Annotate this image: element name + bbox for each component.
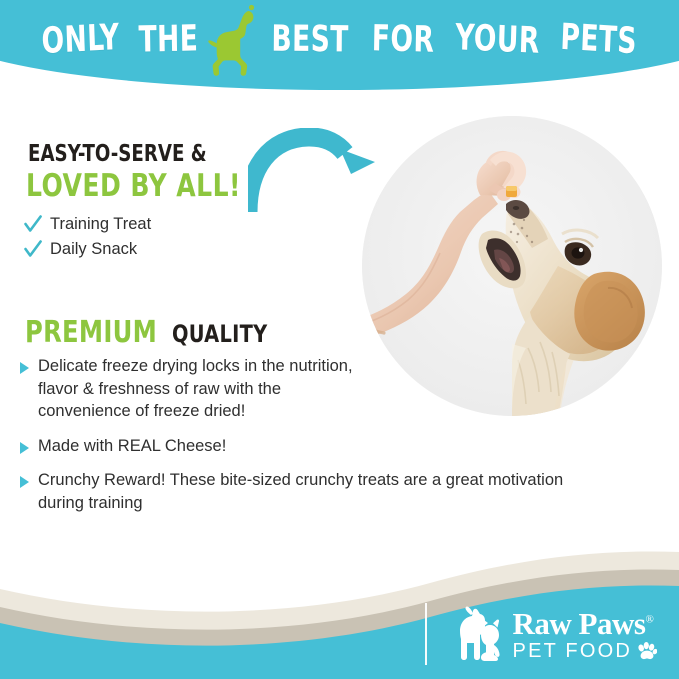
check-label: Training Treat bbox=[50, 213, 151, 235]
curved-arrow-icon bbox=[248, 128, 378, 212]
section-heading-premium: PREMIUM bbox=[25, 315, 157, 350]
paw-print-icon bbox=[637, 642, 657, 660]
section-heading-quality: QUALITY bbox=[172, 320, 267, 348]
check-label: Daily Snack bbox=[50, 238, 137, 260]
bullet-text: Delicate freeze drying locks in the nutr… bbox=[38, 355, 368, 423]
logo-subtitle: PET FOOD bbox=[513, 641, 632, 661]
check-list: Training Treat Daily Snack bbox=[24, 213, 284, 263]
logo-brand-words: Raw Paws bbox=[513, 606, 646, 641]
bullet-text: Made with REAL Cheese! bbox=[38, 435, 226, 458]
triangle-bullet-icon bbox=[20, 362, 29, 374]
check-icon bbox=[24, 213, 42, 235]
header-title: ONLY THE BEST FOR YOUR PETS bbox=[0, 0, 679, 80]
triangle-bullet-icon bbox=[20, 476, 29, 488]
list-item: Training Treat bbox=[24, 213, 284, 235]
logo-divider bbox=[425, 603, 427, 665]
header-word-best: BEST bbox=[272, 22, 350, 59]
logo-text: Raw Paws® PET FOOD bbox=[513, 608, 657, 661]
header-word-your: YOUR bbox=[454, 20, 539, 60]
logo-subtitle-row: PET FOOD bbox=[513, 641, 657, 661]
section-heading: PREMIUM QUALITY bbox=[25, 315, 278, 350]
bullet-text: Crunchy Reward! These bite-sized crunchy… bbox=[38, 469, 598, 514]
header-word-pets: PETS bbox=[560, 20, 638, 61]
list-item: Daily Snack bbox=[24, 238, 284, 260]
logo-brand-name: Raw Paws® bbox=[513, 608, 657, 639]
infographic-page: ONLY THE BEST FOR YOUR PETS EASY-TO-SERV… bbox=[0, 0, 679, 679]
header-word-only: ONLY bbox=[41, 20, 120, 60]
header-word-the: THE bbox=[139, 21, 199, 58]
header-word-for: FOR bbox=[372, 21, 435, 59]
check-icon bbox=[24, 238, 42, 260]
green-dog-silhouette-icon bbox=[207, 2, 263, 78]
eyebrow-heading: EASY-TO-SERVE & bbox=[28, 141, 207, 167]
list-item: Crunchy Reward! These bite-sized crunchy… bbox=[20, 469, 600, 514]
dog-and-cat-silhouette-icon bbox=[451, 605, 503, 663]
triangle-bullet-icon bbox=[20, 442, 29, 454]
list-item: Made with REAL Cheese! bbox=[20, 435, 600, 458]
registered-trademark-icon: ® bbox=[645, 613, 653, 625]
brand-logo: Raw Paws® PET FOOD bbox=[425, 603, 657, 665]
footer-banner: Raw Paws® PET FOOD bbox=[0, 549, 679, 679]
product-photo bbox=[362, 116, 662, 416]
main-heading: LOVED BY ALL! bbox=[26, 168, 241, 204]
